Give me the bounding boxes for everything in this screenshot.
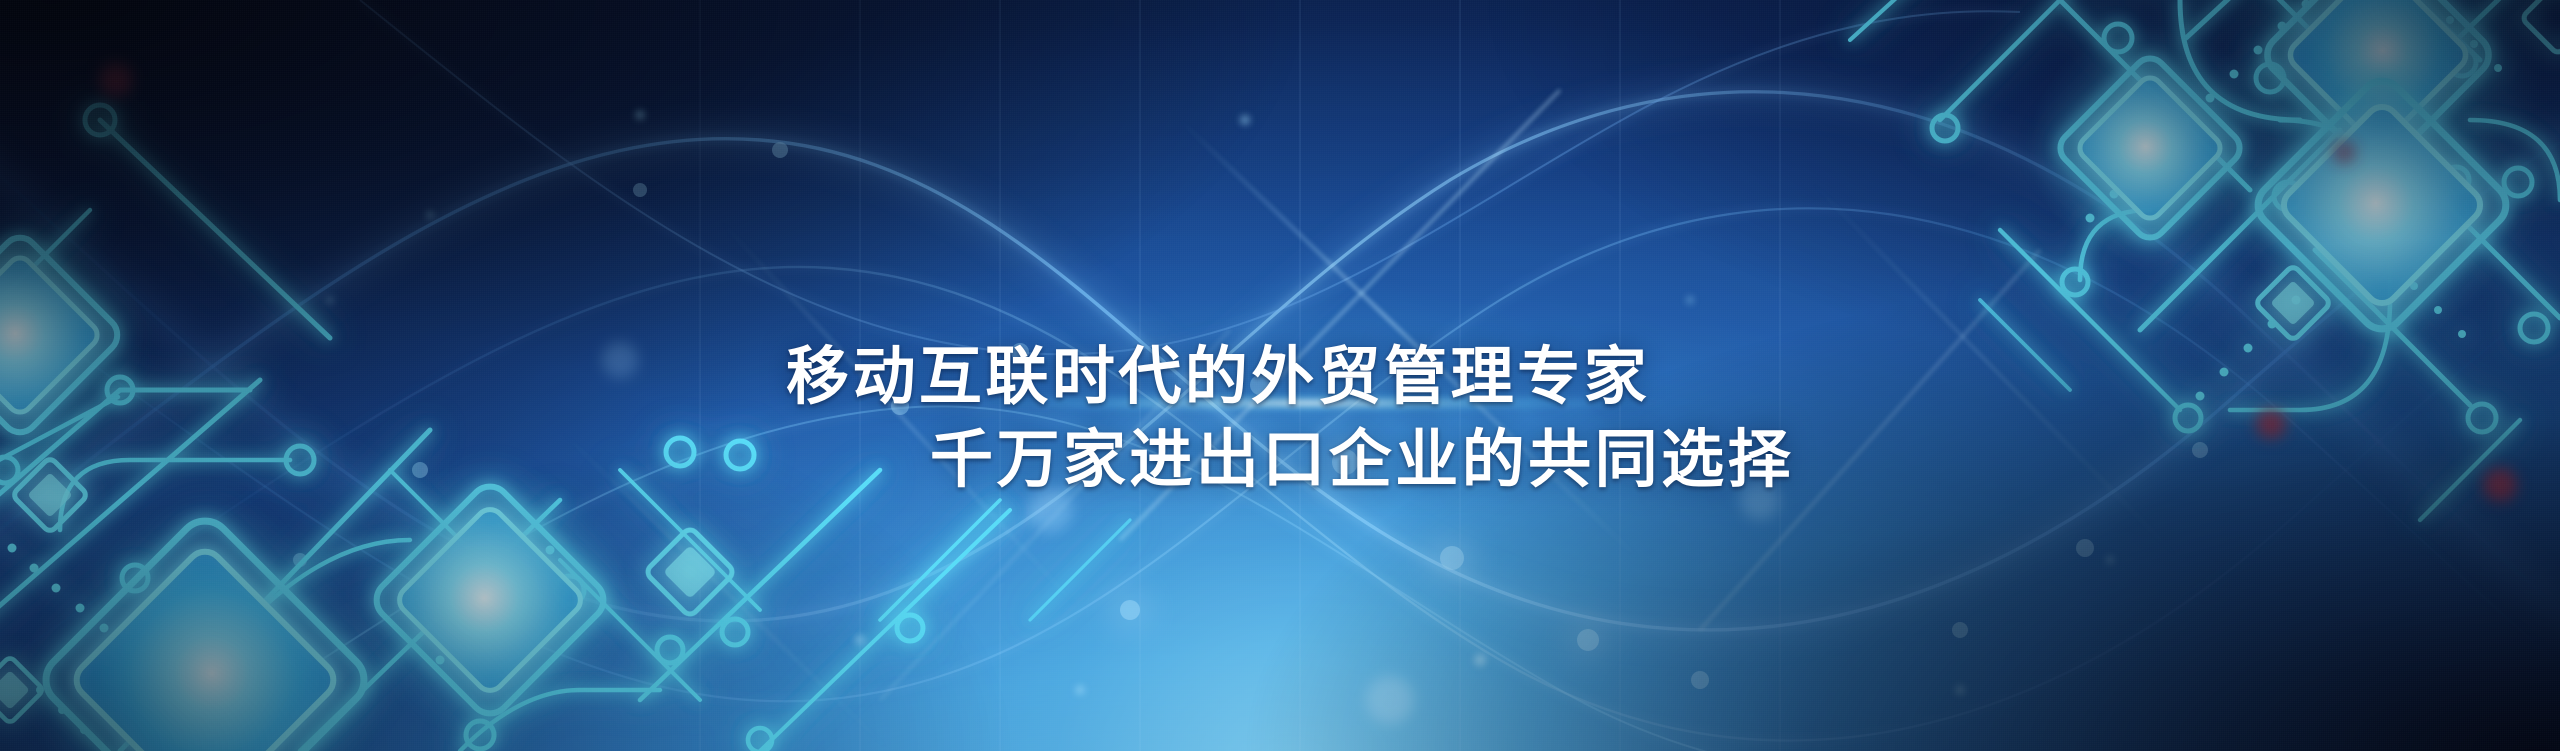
corner-vignette — [0, 0, 2560, 751]
headline-light-beam — [860, 390, 1760, 416]
marketing-banner: 移动互联时代的外贸管理专家 千万家进出口企业的共同选择 — [0, 0, 2560, 751]
